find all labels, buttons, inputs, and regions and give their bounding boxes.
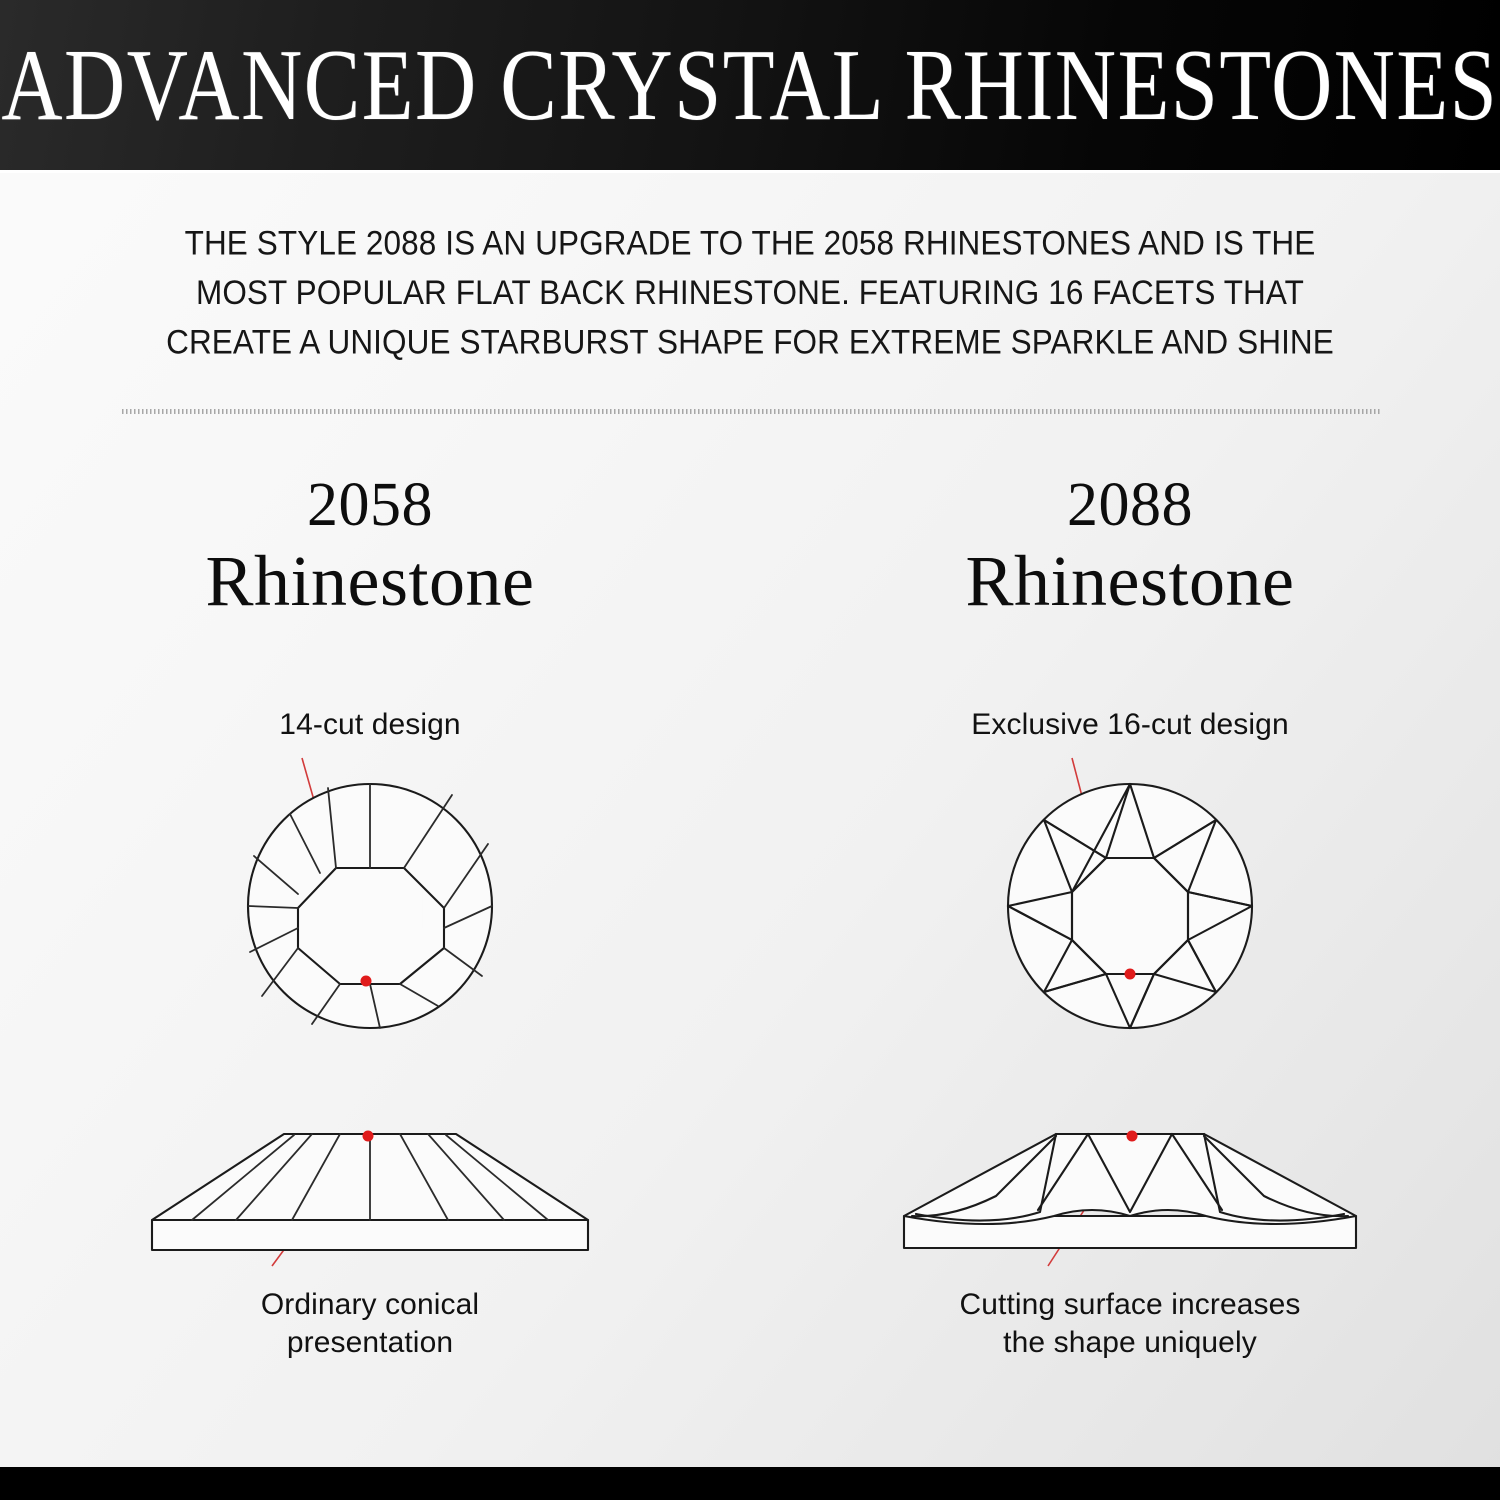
- intro-line-1: THE STYLE 2088 IS AN UPGRADE TO THE 2058…: [110, 218, 1390, 268]
- footer-bar: [0, 1467, 1500, 1500]
- diagram-2058-side-view: [40, 1100, 700, 1270]
- column-2058-number: 2058: [40, 470, 700, 540]
- column-2088: 2088 Rhinestone Exclusive 16-cut design: [800, 470, 1460, 1362]
- label-16-cut-design: Exclusive 16-cut design: [800, 706, 1460, 744]
- header-underline: [0, 170, 1500, 173]
- caption-2088-line-2: the shape uniquely: [800, 1324, 1460, 1362]
- diagram-2058-top-view: [40, 748, 700, 1048]
- column-2088-number: 2088: [800, 470, 1460, 540]
- leader-dot-2088-top: [1125, 969, 1136, 980]
- leader-dot-2058-side: [363, 1131, 374, 1142]
- infographic-page: ADVANCED CRYSTAL RHINESTONES THE STYLE 2…: [0, 0, 1500, 1500]
- caption-2088-line-1: Cutting surface increases: [800, 1286, 1460, 1324]
- label-14-cut-design: 14-cut design: [40, 706, 700, 744]
- column-2058: 2058 Rhinestone 14-cut design: [40, 470, 700, 1362]
- diagram-2088-side-view: [800, 1100, 1460, 1270]
- intro-line-2: MOST POPULAR FLAT BACK RHINESTONE. FEATU…: [110, 268, 1390, 318]
- page-title: ADVANCED CRYSTAL RHINESTONES: [2, 34, 1499, 135]
- leader-dot-2058-top: [361, 976, 372, 987]
- caption-2088-side: Cutting surface increases the shape uniq…: [800, 1286, 1460, 1362]
- column-2058-heading: 2058 Rhinestone: [40, 470, 700, 622]
- dotted-divider: [122, 409, 1380, 414]
- column-2088-heading: 2088 Rhinestone: [800, 470, 1460, 622]
- intro-line-3: CREATE A UNIQUE STARBURST SHAPE FOR EXTR…: [110, 317, 1390, 367]
- leader-dot-2088-side: [1127, 1131, 1138, 1142]
- header-banner: ADVANCED CRYSTAL RHINESTONES: [0, 0, 1500, 170]
- diagram-2088-top-view: [800, 748, 1460, 1048]
- caption-2058-line-2: presentation: [40, 1324, 700, 1362]
- caption-2058-line-1: Ordinary conical: [40, 1286, 700, 1324]
- column-2058-word: Rhinestone: [40, 540, 700, 622]
- intro-paragraph: THE STYLE 2088 IS AN UPGRADE TO THE 2058…: [110, 218, 1390, 367]
- caption-2058-side: Ordinary conical presentation: [40, 1286, 700, 1362]
- column-2088-word: Rhinestone: [800, 540, 1460, 622]
